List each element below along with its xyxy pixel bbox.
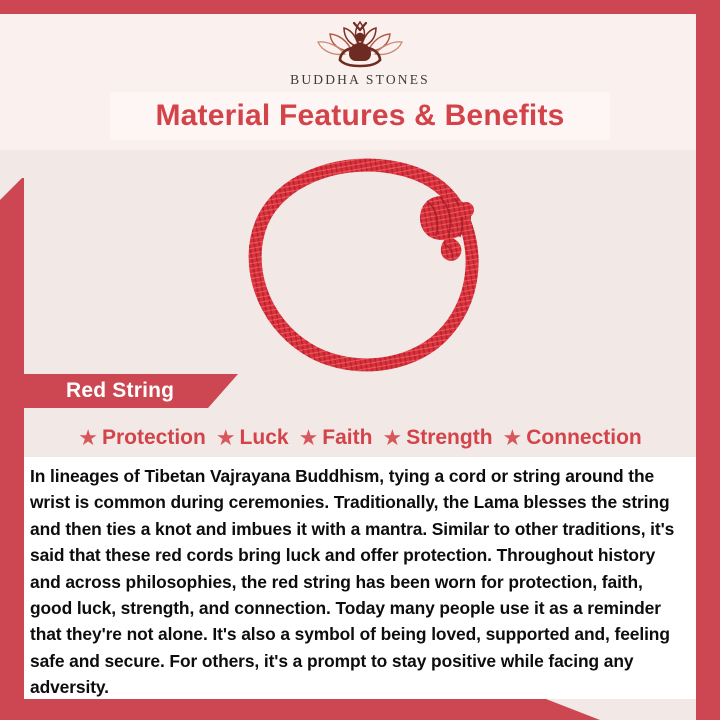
- lotus-meditation-icon: [304, 18, 416, 70]
- star-icon: ★: [299, 427, 319, 449]
- product-image: [228, 152, 518, 382]
- star-icon: ★: [503, 427, 523, 449]
- brand-name: BUDDHA STONES: [290, 72, 430, 88]
- brand-logo: BUDDHA STONES: [0, 18, 720, 94]
- bottom-red-banner: [0, 699, 600, 720]
- benefits-row: ★ Protection ★ Luck ★ Faith ★ Strength ★…: [24, 420, 696, 456]
- benefit-item-protection: ★ Protection: [78, 426, 206, 450]
- benefit-item-connection: ★ Connection: [503, 426, 642, 450]
- description-panel: In lineages of Tibetan Vajrayana Buddhis…: [24, 457, 696, 699]
- benefit-item-luck: ★ Luck: [216, 426, 289, 450]
- title-banner: Material Features & Benefits: [110, 92, 610, 140]
- star-icon: ★: [382, 427, 402, 449]
- poster-root: BUDDHA STONES Material Features & Benefi…: [0, 0, 720, 720]
- benefit-item-faith: ★ Faith: [299, 426, 373, 450]
- left-red-border: [0, 178, 24, 720]
- benefit-label: Faith: [322, 426, 372, 450]
- benefit-label: Strength: [406, 426, 492, 450]
- product-name-banner: Red String: [24, 374, 238, 408]
- benefit-item-strength: ★ Strength: [382, 426, 492, 450]
- star-icon: ★: [78, 427, 98, 449]
- benefit-label: Luck: [240, 426, 289, 450]
- benefit-label: Protection: [102, 426, 206, 450]
- page-title: Material Features & Benefits: [155, 99, 564, 133]
- description-text: In lineages of Tibetan Vajrayana Buddhis…: [30, 463, 684, 701]
- benefit-label: Connection: [526, 426, 642, 450]
- product-name: Red String: [66, 379, 174, 403]
- red-string-bracelet-illustration: [228, 152, 518, 382]
- right-red-border: [696, 14, 720, 720]
- star-icon: ★: [216, 427, 236, 449]
- top-red-border: [0, 0, 720, 14]
